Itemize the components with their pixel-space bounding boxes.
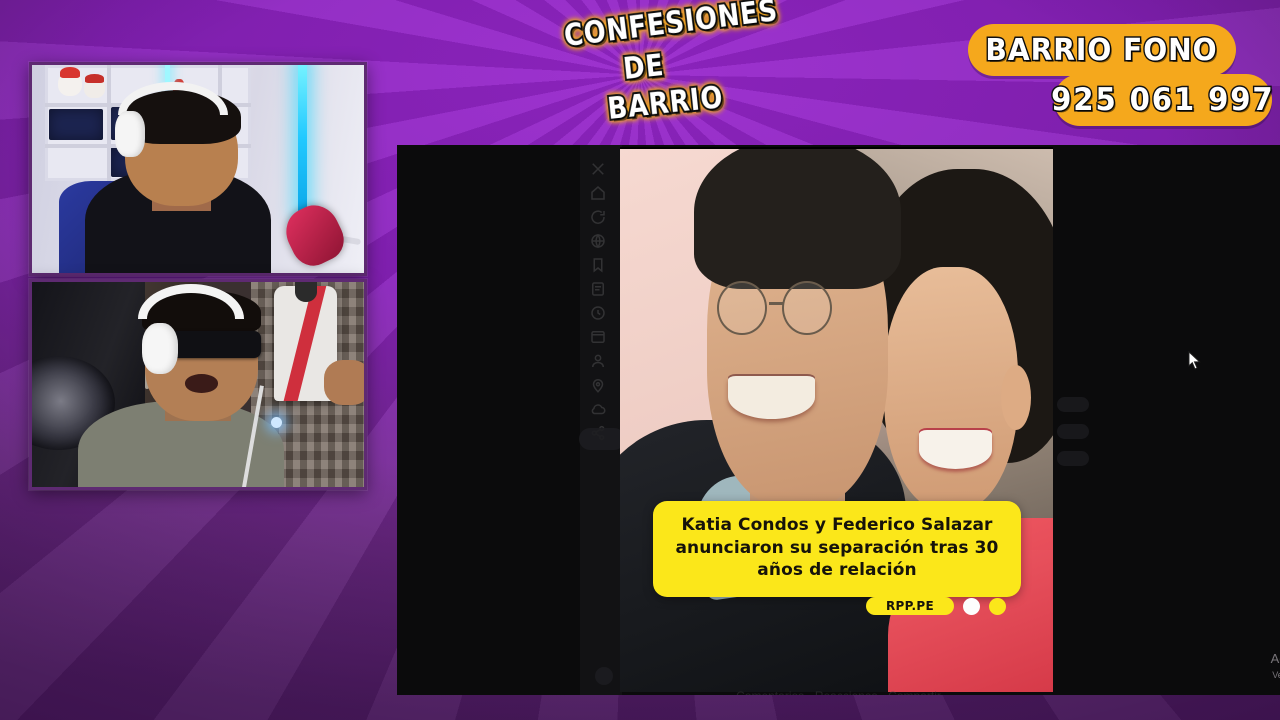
refresh-icon[interactable] (589, 208, 607, 226)
man-eyeglass-left (717, 281, 767, 336)
overlay-button-3[interactable] (1057, 451, 1089, 466)
hotline-label-pill: BARRIO FONO (968, 24, 1236, 76)
sidebar-action-pill[interactable] (579, 428, 625, 450)
overlay-button-2[interactable] (1057, 424, 1089, 439)
pagination-dot-white[interactable] (963, 598, 980, 615)
pagination-dot-yellow[interactable] (989, 598, 1006, 615)
guest-headset-earcup (142, 323, 179, 374)
man-hair (694, 147, 902, 289)
host-camera-scene (32, 65, 364, 273)
panel-footer-text: Comentarios · Reacciones · Compartir (736, 689, 941, 695)
hotline-label: BARRIO FONO (986, 33, 1218, 68)
close-icon[interactable] (589, 160, 607, 178)
plush-toy (58, 71, 83, 97)
cloud-icon[interactable] (589, 400, 607, 418)
watermark-line-1: Activa (1271, 652, 1280, 667)
clock-icon[interactable] (589, 304, 607, 322)
app-sidebar[interactable] (580, 145, 622, 695)
source-badge: RPP.PE (866, 597, 954, 615)
guest-camera[interactable] (29, 279, 367, 490)
video-caption-card: Katia Condos y Federico Salazar anunciar… (653, 501, 1021, 597)
woman-smile (919, 430, 993, 468)
bookmark-icon[interactable] (589, 256, 607, 274)
host-headset-earcup (115, 111, 145, 157)
plush-toy (84, 77, 105, 98)
video-top-edge (620, 147, 1053, 149)
guest-camera-scene (32, 282, 364, 487)
pin-icon[interactable] (589, 376, 607, 394)
video-caption-text: Katia Condos y Federico Salazar anunciar… (673, 514, 1001, 582)
man-eyeglass-right (782, 281, 832, 336)
overlay-buttons[interactable] (1057, 397, 1097, 478)
screen-share-panel[interactable]: Comentarios · Reacciones · Compartir (397, 145, 1280, 695)
led-strip (298, 62, 307, 219)
globe-icon[interactable] (589, 232, 607, 250)
guest-arm (324, 360, 367, 405)
mouse-cursor (1188, 351, 1201, 370)
overlay-button-1[interactable] (1057, 397, 1089, 412)
shelf-box (49, 109, 103, 139)
watermark-line-2: Ve a Co (1271, 670, 1280, 680)
host-camera[interactable] (29, 62, 367, 276)
hotline-plaque: BARRIO FONO 925 061 997 (954, 24, 1274, 136)
video-source-row: RPP.PE (866, 597, 1006, 615)
note-icon[interactable] (589, 280, 607, 298)
hotline-number-pill: 925 061 997 (1054, 74, 1272, 126)
home-icon[interactable] (589, 184, 607, 202)
man-eyeglass-bridge (769, 302, 783, 305)
window-icon[interactable] (589, 328, 607, 346)
guest-mouth (185, 374, 218, 392)
person-icon[interactable] (589, 352, 607, 370)
woman-face (884, 267, 1018, 512)
hotline-number: 925 061 997 (1051, 82, 1274, 118)
windows-activation-watermark: Activa Ve a Co (1271, 652, 1280, 680)
panel-footer: Comentarios · Reacciones · Compartir (397, 669, 1280, 695)
stream-stage: CONFESIONES DE BARRIO BARRIO FONO 925 06… (0, 0, 1280, 720)
